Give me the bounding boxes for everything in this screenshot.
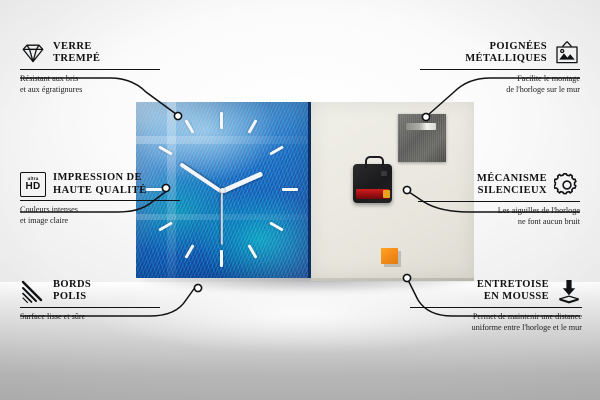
hanger-slot <box>406 123 436 130</box>
battery-terminal <box>383 190 390 198</box>
callout-subtitle-line2: ne font aucun bruit <box>518 217 580 226</box>
callout-mecanisme-silencieux: MÉCANISME SILENCIEUX Les aiguilles de l'… <box>418 172 580 227</box>
callout-header: POIGNÉES MÉTALLIQUES <box>420 40 580 66</box>
clock-hand-second <box>221 191 223 245</box>
callout-subtitle-line1: Couleurs intenses <box>20 205 78 214</box>
callout-subtitle-line1: Permet de maintenir une distance <box>473 312 582 321</box>
callout-subtitle: Couleurs intenses et image claire <box>20 205 180 226</box>
picture-frame-hanger-icon <box>554 40 580 66</box>
callout-subtitle-line2: uniforme entre l'horloge et le mur <box>472 323 582 332</box>
callout-divider <box>418 201 580 202</box>
callout-title-line2: TREMPÉ <box>53 53 100 64</box>
callout-subtitle: Les aiguilles de l'horloge ne font aucun… <box>418 206 580 227</box>
callout-subtitle-line2: et aux égratignures <box>20 85 82 94</box>
callout-header: ultra HD IMPRESSION DE HAUTE QUALITÉ <box>20 172 180 197</box>
callout-header: BORDS POLIS <box>20 278 160 304</box>
callout-divider <box>420 69 580 70</box>
clock-mechanism <box>353 164 392 203</box>
callout-header: MÉCANISME SILENCIEUX <box>418 172 580 198</box>
callout-subtitle-line2: de l'horloge sur le mur <box>506 85 580 94</box>
ultra-hd-badge-icon: ultra HD <box>20 172 46 197</box>
callout-title-line2: EN MOUSSE <box>484 291 549 302</box>
callout-title: MÉCANISME SILENCIEUX <box>477 173 547 198</box>
callout-title-line1: BORDS <box>53 279 91 290</box>
callout-divider <box>20 69 160 70</box>
callout-title: IMPRESSION DE HAUTE QUALITÉ <box>53 172 147 197</box>
mechanism-detail <box>381 171 387 176</box>
callout-divider <box>20 200 180 201</box>
callout-subtitle: Permet de maintenir une distance uniform… <box>410 312 582 333</box>
mechanism-hanging-loop <box>365 156 384 168</box>
down-arrow-on-layer-icon <box>556 278 582 304</box>
callout-title: POIGNÉES MÉTALLIQUES <box>465 41 547 66</box>
callout-divider <box>20 307 160 308</box>
callout-subtitle: Résistant aux bris et aux égratignures <box>20 74 160 95</box>
foam-spacer <box>381 248 398 264</box>
callout-divider <box>410 307 582 308</box>
callout-title-line2: MÉTALLIQUES <box>465 53 547 64</box>
callout-poignees-metalliques: POIGNÉES MÉTALLIQUES Facilite le montage… <box>420 40 580 95</box>
callout-title-line1: POIGNÉES <box>490 41 547 52</box>
callout-bords-polis: BORDS POLIS Surface lisse et sûre <box>20 278 160 323</box>
callout-title: BORDS POLIS <box>53 279 91 304</box>
callout-title-line1: ENTRETOISE <box>477 279 549 290</box>
callout-title-line2: HAUTE QUALITÉ <box>53 185 147 196</box>
callout-subtitle: Facilite le montage de l'horloge sur le … <box>420 74 580 95</box>
callout-header: ENTRETOISE EN MOUSSE <box>410 278 582 304</box>
gear-icon <box>554 172 580 198</box>
callout-title-line2: POLIS <box>53 291 87 302</box>
callout-title-line1: MÉCANISME <box>477 173 547 184</box>
infographic-stage: VERRE TREMPÉ Résistant aux bris et aux é… <box>0 0 600 400</box>
clock-tick <box>282 188 298 191</box>
callout-subtitle-line2: et image claire <box>20 216 68 225</box>
callout-header: VERRE TREMPÉ <box>20 40 160 66</box>
callout-entretoise-en-mousse: ENTRETOISE EN MOUSSE Permet de maintenir… <box>410 278 582 333</box>
clock-tick <box>220 250 223 267</box>
metal-hanger-plate <box>398 114 446 162</box>
callout-subtitle: Surface lisse et sûre <box>20 312 160 322</box>
callout-title-line1: VERRE <box>53 41 92 52</box>
callout-subtitle-line1: Résistant aux bris <box>20 74 78 83</box>
clock-tick <box>220 112 223 129</box>
callout-impression-hd: ultra HD IMPRESSION DE HAUTE QUALITÉ Cou… <box>20 172 180 226</box>
callout-subtitle-line1: Facilite le montage <box>517 74 580 83</box>
clock-center-pin <box>220 188 225 193</box>
ultra-hd-badge-main-text: HD <box>25 182 40 192</box>
callout-title: ENTRETOISE EN MOUSSE <box>477 279 549 304</box>
callout-subtitle-line1: Les aiguilles de l'horloge <box>498 206 580 215</box>
callout-verre-trempe: VERRE TREMPÉ Résistant aux bris et aux é… <box>20 40 160 95</box>
diamond-icon <box>20 40 46 66</box>
polished-edge-lines-icon <box>20 278 46 304</box>
callout-subtitle-line1: Surface lisse et sûre <box>20 312 85 321</box>
callout-title-line1: IMPRESSION DE <box>53 172 142 183</box>
callout-title-line2: SILENCIEUX <box>478 185 547 196</box>
callout-title: VERRE TREMPÉ <box>53 41 100 66</box>
